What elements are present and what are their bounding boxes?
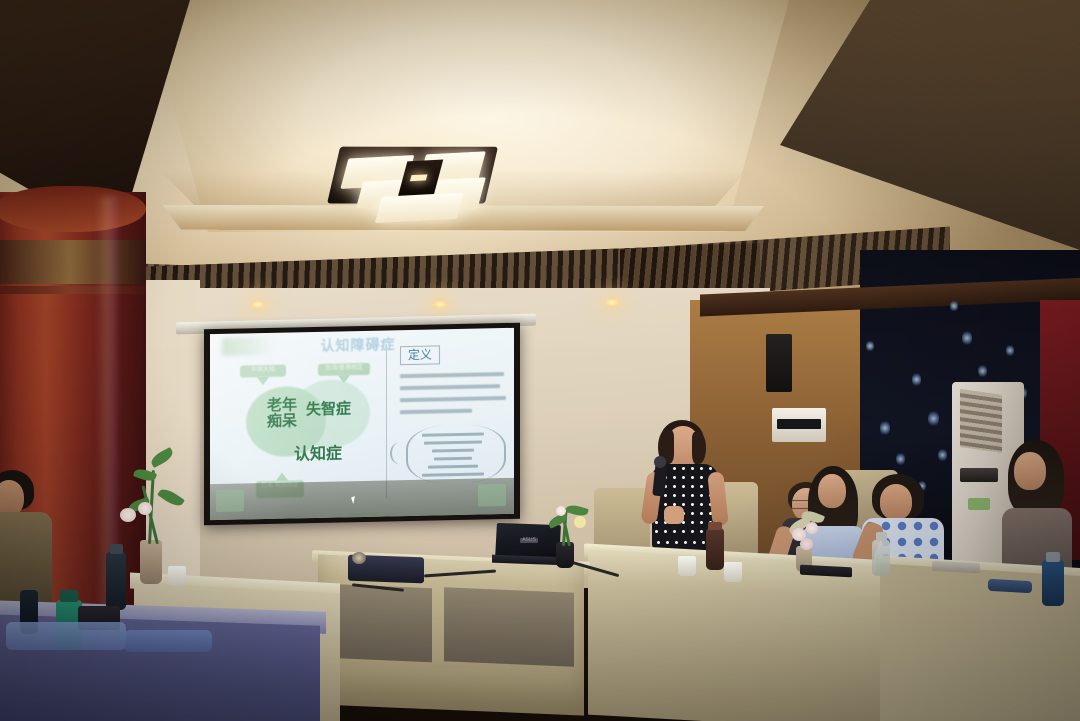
flower-bloom [138,502,152,515]
slide-brace-sweep [390,442,410,464]
projector-lens [352,552,366,564]
slide-tag-left: 中国大陆 [240,365,286,378]
cloth [124,630,212,652]
slide-divider [386,350,387,498]
window-sparkle [978,364,987,378]
slide-arrow-icon [257,377,269,385]
flower-bloom [800,538,813,550]
window-sparkle [896,452,905,466]
wall-speaker [766,334,792,392]
slide-term-cognitive-cn: 认知症 [294,439,342,464]
slide-definition-heading: 定义 [400,345,440,365]
projection-screen: 认知障碍症 中国大陆 台湾/香港地区 老年痴呆 失智症 认知症 定义 [210,328,514,520]
bottle [872,540,890,576]
window-sparkle [912,372,921,387]
cup [168,566,186,586]
flower-bloom [556,506,566,516]
slide-body-line [400,396,506,402]
slide-tag-right: 台湾/香港地区 [318,363,370,376]
bottle [706,528,724,570]
ac-display-panel [960,468,998,482]
lamp-panel [375,192,464,223]
ac-vent-louvers [960,389,1002,453]
bottle-cap [110,544,123,554]
bottle-cap [1046,552,1060,562]
presenter-hair-side [692,432,706,464]
slide-body-line [400,384,500,390]
window-sparkle [1006,344,1014,357]
slide-term-lossmind-cn: 失智症 [306,397,351,419]
microphone-head-icon [654,456,666,468]
cup [678,556,696,576]
bag [988,579,1032,593]
projection-screen-frame: 认知障碍症 中国大陆 台湾/香港地区 老年痴呆 失智症 认知症 定义 [204,323,520,526]
flower-vase [140,540,162,584]
window-sparkle [950,300,958,312]
bottle-cap [60,590,78,602]
slide-arrow-icon [276,473,288,481]
audience-head [1014,452,1046,490]
slide-side-tag [216,489,244,512]
photo-scene: 认知障碍症 中国大陆 台湾/香港地区 老年痴呆 失智症 认知症 定义 [0,0,1080,721]
downlight [432,300,448,309]
cloth [6,622,126,650]
wooden-column-band [0,240,146,284]
audience-4 [1000,440,1080,580]
window-sparkle [938,448,947,462]
bottle-cap [876,532,887,541]
slide-side-tag [478,484,506,507]
window-sparkle [880,420,890,436]
bottle-cap [708,522,722,530]
presenter-hand [664,506,684,524]
slide-term-dementia-cn: 老年痴呆 [260,396,304,429]
wooden-column-band-lower [0,286,146,294]
wall-control-panel [772,408,826,442]
ac-brand-badge [968,498,990,510]
flower-vase [556,542,574,568]
ceiling-light-fixture [323,138,507,229]
slide-footer-chip [346,513,380,520]
desk-cubby [326,584,432,662]
wooden-column-cap [0,186,146,232]
downlight [604,298,620,307]
bottle [1042,560,1064,606]
cup [724,562,742,582]
window-sparkle [866,340,874,352]
window-sparkle [928,410,939,427]
downlight [250,300,266,309]
audience-head [0,480,24,516]
audience-head [880,484,912,520]
slide-body-line [400,372,504,378]
window-sparkle [962,330,972,346]
slide-body-line [400,409,472,415]
flower-bloom [574,516,586,528]
flower-bloom [120,508,136,522]
audience-head [818,474,846,508]
desk-cubby [444,587,574,666]
laptop-brand-logo: ASUS [520,538,538,543]
bottle [106,552,126,610]
flower-bloom [806,522,818,534]
